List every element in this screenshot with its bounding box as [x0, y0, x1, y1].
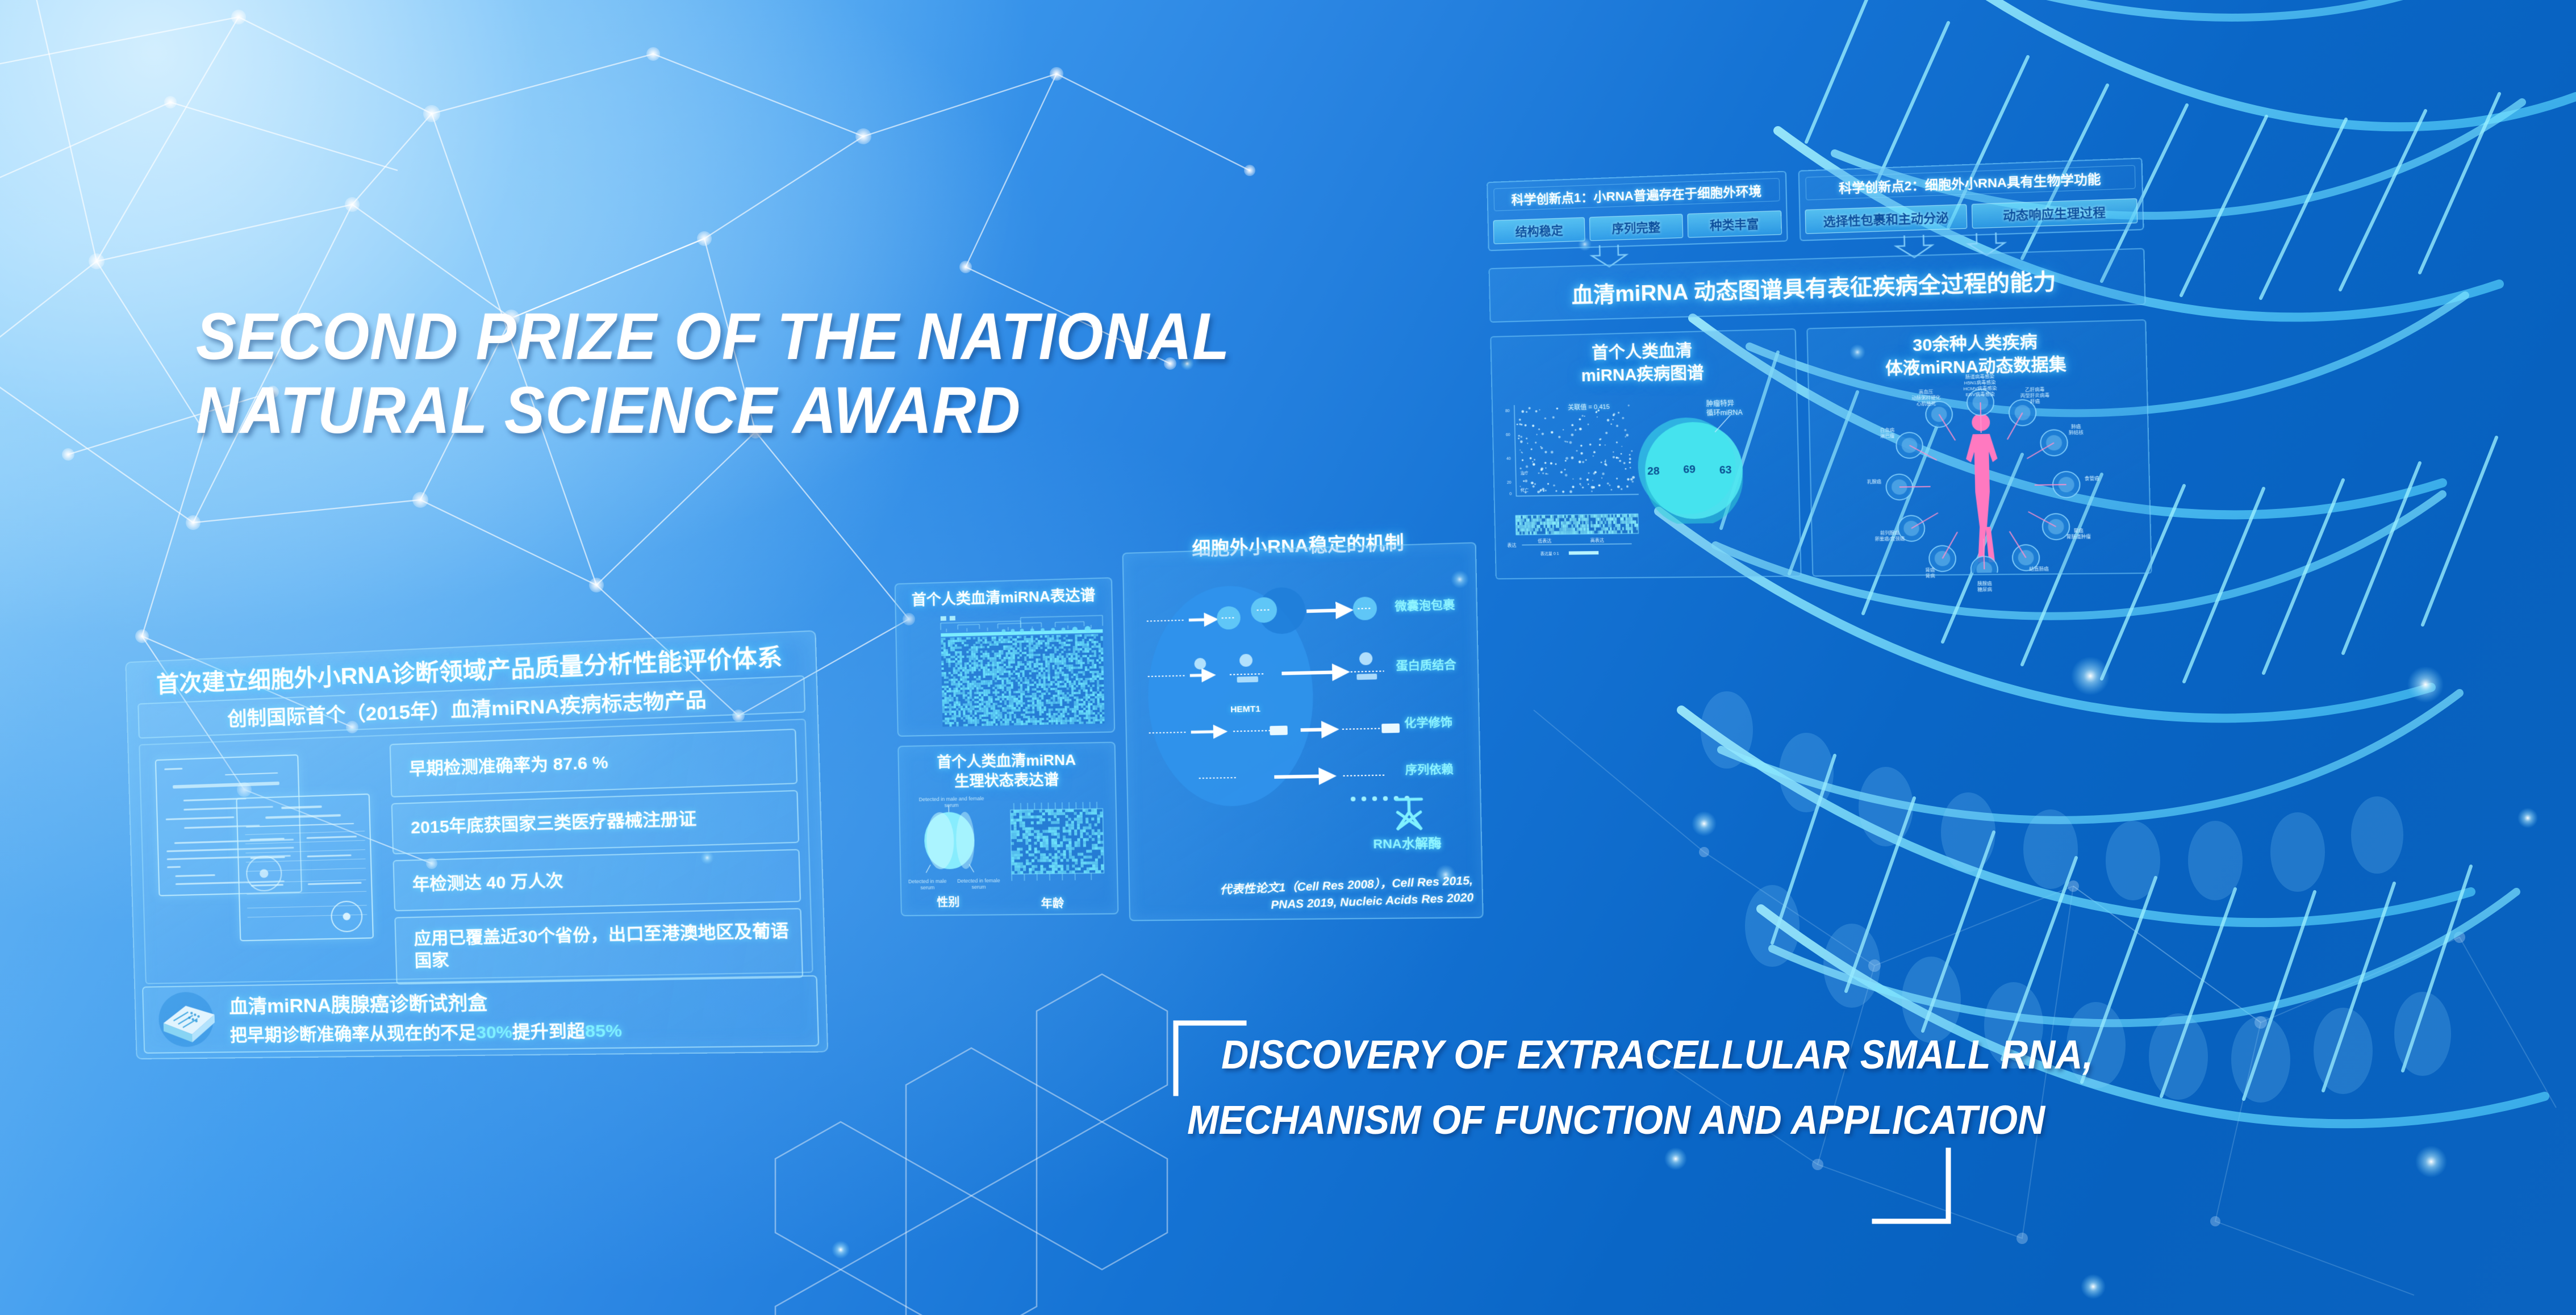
age-axis-label: 年龄 — [1041, 894, 1064, 911]
innovation-2-tags: 选择性包裹和主动分泌 动态响应生理过程 — [1805, 198, 2138, 234]
kit-text-block: 血清miRNA胰腺癌诊断试剂盒 把早期诊断准确率从现在的不足30%提升到超85% — [229, 985, 623, 1046]
atlas-correlation-note: 关联值 = 0.415 — [1568, 402, 1610, 412]
innovation-1-header: 科学创新点1：小RNA普遍存在于细胞外环境 — [1493, 178, 1780, 211]
left-board-body: 早期检测准确率为 87.6 % 2015年底获国家三类医疗器械注册证 年检测达 … — [139, 719, 813, 984]
disease-label: 肠道病毒感染 H5N1病毒感染 HCMV病毒感染 EBV病毒感染 — [1955, 374, 2006, 398]
disease-label: 结直肠癌 — [2013, 566, 2064, 573]
poster-canvas: SECOND PRIZE OF THE NATIONAL NATURAL SCI… — [0, 0, 2576, 1315]
svg-text:表达量 0 1: 表达量 0 1 — [1540, 551, 1559, 556]
svg-text:60: 60 — [1506, 433, 1510, 437]
gender-axis-label: 性别 — [937, 893, 960, 909]
innovation-point-1: 科学创新点1：小RNA普遍存在于细胞外环境 结构稳定 序列完整 种类丰富 — [1487, 171, 1788, 251]
certificate-document-2 — [236, 794, 374, 941]
dataset-title-line-1: 30余种人类疾病 — [1913, 333, 2038, 355]
svg-text:40: 40 — [1506, 457, 1511, 461]
age-heatmap — [1005, 798, 1111, 886]
atlas-expression-bar: 表达低表达高表达 表达量 0 1 — [1505, 511, 1643, 558]
venn-caption: 肿瘤特异 循环miRNA — [1706, 399, 1743, 418]
disease-label: 白血病 淋巴瘤 — [1862, 427, 1913, 440]
expression-heatmap — [935, 611, 1109, 729]
fact-item: 年检测达 40 万人次 — [393, 849, 801, 912]
rna-hydrolase-icon — [1388, 794, 1430, 833]
svg-text:治疗: 治疗 — [1520, 470, 1528, 475]
body-fluid-mirna-dataset-panel: 30余种人类疾病 体液miRNA动态数据集 肠道病毒感染 H5N1病毒感染 HC… — [1806, 319, 2152, 577]
innovation-1-tags: 结构稳定 序列完整 种类丰富 — [1493, 210, 1782, 244]
left-achievement-board: 首次建立细胞外小RNA诊断领域产品质量分析性能评价体系 创制国际首个（2015年… — [125, 630, 828, 1059]
disease-label: 乳腺癌 — [1849, 479, 1899, 486]
mechanism-label-protein-binding: 蛋白质结合 — [1396, 656, 1456, 674]
venn-note-left: Detected in male serum — [905, 878, 950, 891]
human-silhouette — [1965, 413, 1999, 562]
fact-item: 早期检测准确率为 87.6 % — [390, 729, 798, 798]
atlas-scatter-plot: 806040200 治疗死亡 — [1502, 398, 1642, 508]
disease-label: 胃癌 胃肠道肿瘤 — [2053, 528, 2105, 540]
middle-research-board: 首个人类血清miRNA表达谱 — [894, 542, 1484, 923]
physiological-state-panel: 首个人类血清miRNA 生理状态表达谱 Detected in male and… — [897, 742, 1118, 916]
venn-value-center: 69 — [1683, 464, 1696, 477]
svg-text:低表达: 低表达 — [1538, 538, 1551, 544]
tag-rich-variety: 种类丰富 — [1687, 210, 1782, 237]
disease-label: 前列腺癌 卵巢癌/宫颈癌 — [1865, 530, 1915, 542]
disease-label: 胰腺癌 糖尿病 — [1959, 581, 2010, 593]
test-kit-icon — [150, 989, 226, 1049]
award-title: SECOND PRIZE OF THE NATIONAL NATURAL SCI… — [196, 300, 1267, 448]
diagnostic-kit-highlight: 血清miRNA胰腺癌诊断试剂盒 把早期诊断准确率从现在的不足30%提升到超85% — [142, 975, 819, 1054]
mechanism-label-chemical-modification: 化学修饰 — [1404, 713, 1452, 731]
mechanism-label-sequence-dependent: 序列依赖 — [1405, 760, 1454, 778]
disease-label: 肾癌 肾病 — [1905, 567, 1955, 579]
physio-panel-title: 首个人类血清miRNA 生理状态表达谱 — [903, 750, 1110, 792]
venn-value-left: 28 — [1647, 465, 1660, 478]
kit-claim-current: 30% — [476, 1022, 513, 1042]
top-right-innovation-board: 科学创新点1：小RNA普遍存在于细胞外环境 结构稳定 序列完整 种类丰富 科学创… — [1487, 158, 2152, 579]
venn-note-top: Detected in male and female serum — [915, 795, 989, 809]
atlas-panel-title: 首个人类血清 miRNA疾病图谱 — [1495, 338, 1793, 390]
mechanism-gene-label: HEMT1 — [1230, 704, 1260, 715]
atlas-title-line-2: miRNA疾病图谱 — [1581, 364, 1704, 385]
kit-claim-target: 85% — [585, 1021, 623, 1041]
svg-text:表达: 表达 — [1507, 542, 1516, 548]
kit-claim-pre: 把早期诊断准确率从现在的不足 — [229, 1023, 476, 1045]
rna-hydrolase-label: RNA水解酶 — [1373, 833, 1442, 853]
gender-venn-diagram — [913, 804, 995, 879]
kit-claim-mid: 提升到超 — [512, 1022, 585, 1042]
atlas-venn-disc — [1627, 401, 1764, 524]
venn-value-right: 63 — [1719, 464, 1732, 477]
rna-stability-mechanism-panel: 微囊泡包裹 蛋白质结合 化学修饰 序列依赖 HEMT1 RNA水解酶 代表性论文… — [1122, 542, 1483, 921]
innovation-point-2: 科学创新点2：细胞外小RNA具有生物学功能 选择性包裹和主动分泌 动态响应生理过… — [1798, 158, 2144, 241]
kit-claim: 把早期诊断准确率从现在的不足30%提升到超85% — [229, 1016, 622, 1046]
representative-citation: 代表性论文1（Cell Res 2008），Cell Res 2015, PNA… — [1140, 873, 1474, 919]
achievement-fact-list: 早期检测准确率为 87.6 % 2015年底获国家三类医疗器械注册证 年检测达 … — [390, 729, 803, 971]
certificate-images — [151, 749, 387, 967]
capability-banner: 血清miRNA 动态图谱具有表征疾病全过程的能力 — [1489, 248, 2146, 323]
venn-caption-line-2: 循环miRNA — [1706, 408, 1743, 418]
svg-text:20: 20 — [1507, 481, 1512, 485]
serum-mirna-expression-panel: 首个人类血清miRNA表达谱 — [895, 577, 1116, 737]
tag-selective-secretion: 选择性包裹和主动分泌 — [1805, 204, 1968, 234]
svg-text:高表达: 高表达 — [1590, 537, 1604, 543]
disease-label: 乙肝病毒 丙型肝炎病毒 肝癌 — [2009, 386, 2061, 405]
svg-text:死亡: 死亡 — [1521, 487, 1529, 492]
mechanism-label-microvesicle: 微囊泡包裹 — [1395, 595, 1455, 614]
disease-label: 高血压 动脉粥样硬化 心肌梗死 — [1901, 389, 1951, 408]
kit-title: 血清miRNA胰腺癌诊断试剂盒 — [229, 985, 621, 1019]
disease-label: 肺癌 肺结核 — [2050, 424, 2102, 437]
venn-caption-line-1: 肿瘤特异 — [1706, 399, 1743, 409]
disease-label: 食管癌 — [2066, 475, 2118, 482]
subtitle-line-2: MECHANISM OF FUNCTION AND APPLICATION — [1187, 1088, 2148, 1153]
innovation-2-header: 科学创新点2：细胞外小RNA具有生物学功能 — [1805, 165, 2135, 201]
subtitle-line-1: DISCOVERY OF EXTRACELLULAR SMALL RNA, — [1221, 1022, 2151, 1088]
physio-title-line-2: 生理状态表达谱 — [954, 771, 1059, 790]
subtitle-block: DISCOVERY OF EXTRACELLULAR SMALL RNA, ME… — [1187, 1022, 2210, 1153]
fact-item: 2015年底获国家三类医疗器械注册证 — [391, 790, 800, 854]
hexagon-pattern — [775, 974, 1167, 1315]
venn-note-right: Detected in female serum — [955, 878, 1003, 891]
award-title-line-1: SECOND PRIZE OF THE NATIONAL — [196, 300, 1267, 374]
fact-item: 应用已覆盖近30个省份，出口至港澳地区及葡语国家 — [394, 908, 803, 984]
mirna-disease-atlas-panel: 首个人类血清 miRNA疾病图谱 806040200 治疗死亡 关联值 = 0.… — [1490, 328, 1801, 579]
physio-title-line-1: 首个人类血清miRNA — [937, 751, 1076, 771]
svg-text:80: 80 — [1505, 409, 1510, 413]
expression-panel-title: 首个人类血清miRNA表达谱 — [900, 586, 1107, 611]
tag-sequence-intact: 序列完整 — [1589, 214, 1683, 241]
tag-structure-stable: 结构稳定 — [1493, 217, 1585, 244]
award-title-line-2: NATURAL SCIENCE AWARD — [196, 374, 1267, 448]
svg-text:0: 0 — [1509, 492, 1512, 496]
tag-dynamic-response: 动态响应生理过程 — [1972, 198, 2138, 228]
atlas-title-line-1: 首个人类血清 — [1592, 342, 1692, 363]
